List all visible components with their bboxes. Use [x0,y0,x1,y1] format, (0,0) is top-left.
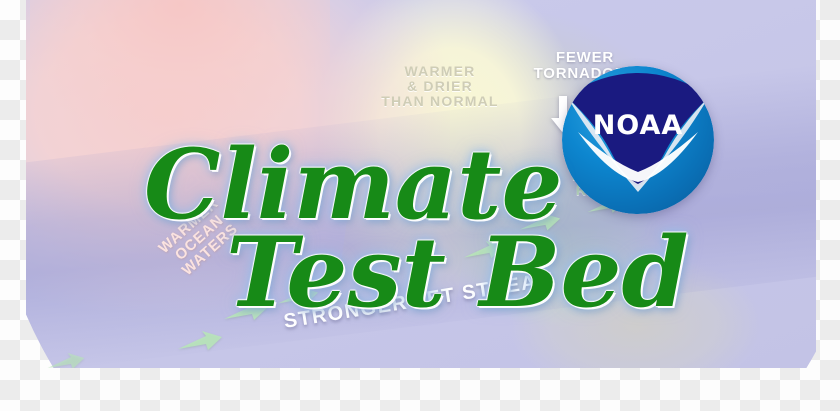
warm-sea-surface-core [30,0,330,120]
climate-test-bed-banner: WARMER & DRIER THAN NORMAL FEWER TORNADO… [26,0,816,368]
screenshot-canvas: WARMER & DRIER THAN NORMAL FEWER TORNADO… [0,0,840,411]
jet-stream-arrow-icon [176,330,224,356]
annotation-warmer-drier: WARMER & DRIER THAN NORMAL [362,64,518,109]
annotation-line: FEWER [526,50,644,66]
jet-stream-arrow-icon [46,352,86,368]
annotation-line: WARMER [362,64,518,79]
noaa-logo: NOAA [562,66,714,214]
wordmark-line-test-bed: Test Bed [226,216,689,329]
annotation-line: THAN NORMAL [362,94,518,109]
noaa-wordmark: NOAA [562,110,714,141]
annotation-line: & DRIER [362,79,518,94]
